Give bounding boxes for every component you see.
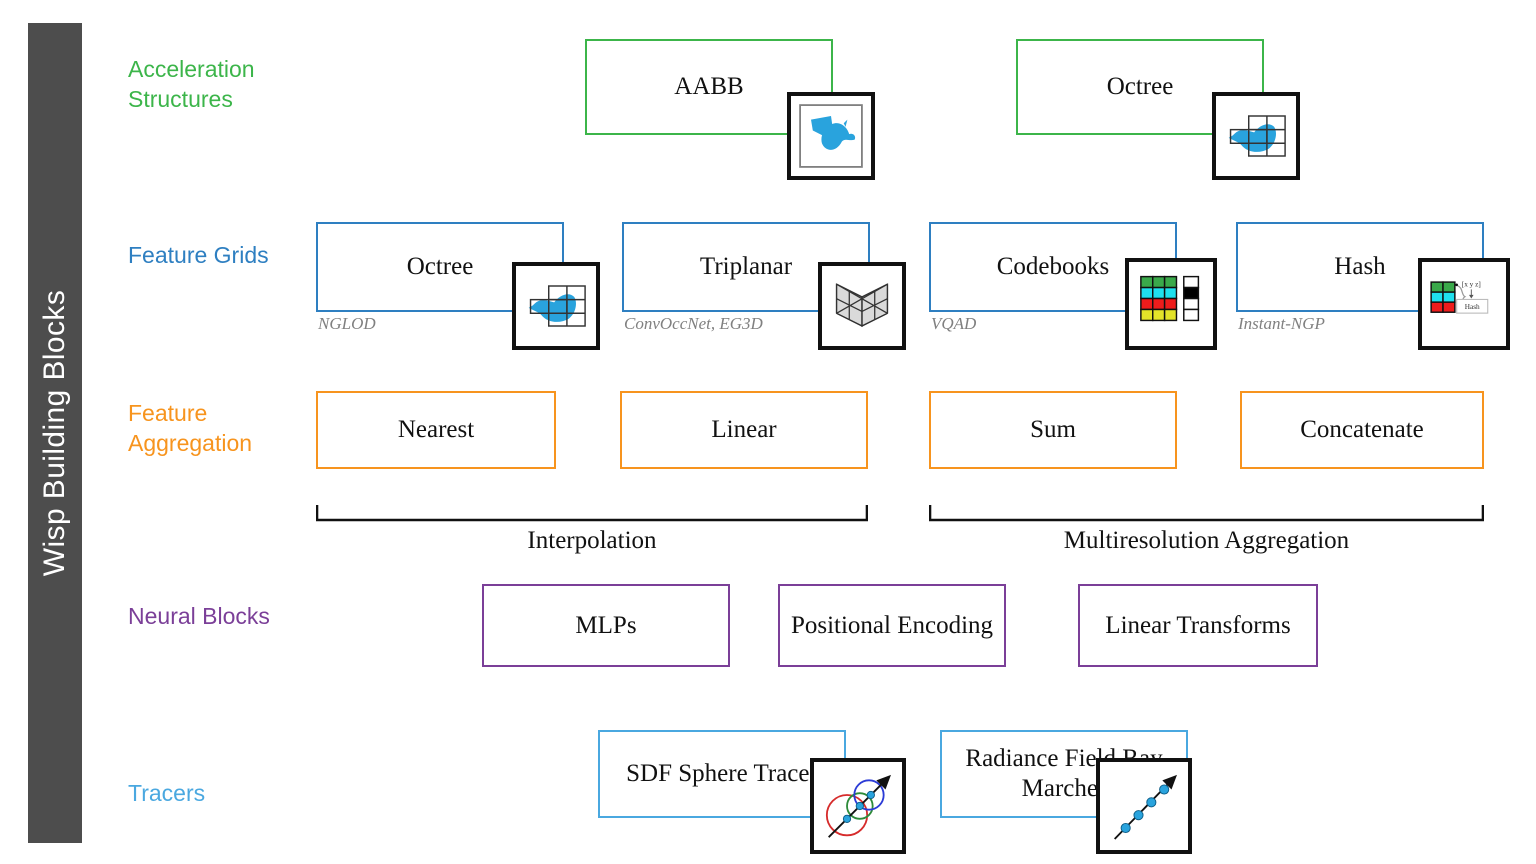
sphere-tracer-icon [810,758,906,854]
node-positional-encoding[interactable]: Positional Encoding [778,584,1006,667]
node-linear-transforms[interactable]: Linear Transforms [1078,584,1318,667]
node-aabb-label: AABB [674,72,743,102]
row-label-tracers: Tracers [128,778,328,808]
octree-grid-icon [1212,92,1300,180]
bracket-multiresolution-aggregation-label: Multiresolution Aggregation [929,527,1484,555]
node-sdf-sphere-tracer-label: SDF Sphere Tracer [626,759,818,789]
node-mlps[interactable]: MLPs [482,584,730,667]
row-label-neural-blocks: Neural Blocks [128,601,348,631]
bracket-interpolation-label: Interpolation [316,527,868,555]
row-label-feature-aggregation: Feature Aggregation [128,398,338,458]
node-sum-label: Sum [1030,415,1076,445]
bracket-interpolation [316,504,868,526]
triplanar-planes-icon [818,262,906,350]
node-concatenate-label: Concatenate [1300,415,1424,445]
node-triplanar-label: Triplanar [700,252,792,282]
svg-text:Hash: Hash [1465,302,1480,311]
svg-text:[x y z]: [x y z] [1462,280,1481,289]
banner-title: Wisp Building Blocks [38,290,72,576]
node-positional-encoding-label: Positional Encoding [791,611,993,641]
node-sdf-sphere-tracer[interactable]: SDF Sphere Tracer [598,730,846,818]
codebook-palette-icon [1125,258,1217,350]
node-hash-label: Hash [1334,252,1385,282]
row-label-acceleration-structures: Acceleration Structures [128,54,328,114]
node-linear[interactable]: Linear [620,391,868,469]
node-nearest[interactable]: Nearest [316,391,556,469]
node-nearest-label: Nearest [398,415,474,445]
row-label-feature-grids: Feature Grids [128,240,348,270]
node-mlps-label: MLPs [575,611,636,641]
caption-instant-ngp: Instant-NGP [1238,314,1325,334]
node-sum[interactable]: Sum [929,391,1177,469]
node-octree-grid-label: Octree [407,252,474,282]
bracket-multiresolution-aggregation [929,504,1484,526]
diagram-canvas: Wisp Building Blocks Acceleration Struct… [0,0,1536,864]
caption-vqad: VQAD [931,314,976,334]
wisp-banner: Wisp Building Blocks [28,23,82,843]
aabb-blob-icon [787,92,875,180]
caption-convoccnet-eg3d: ConvOccNet, EG3D [624,314,763,334]
node-concatenate[interactable]: Concatenate [1240,391,1484,469]
hash-table-icon: [x y z] Hash [1418,258,1510,350]
caption-nglod: NGLOD [318,314,376,334]
node-linear-label: Linear [711,415,776,445]
octree-grid-icon [512,262,600,350]
node-octree-acceleration-label: Octree [1107,72,1174,102]
ray-marcher-icon [1096,758,1192,854]
node-linear-transforms-label: Linear Transforms [1105,611,1290,641]
node-codebooks-label: Codebooks [997,252,1110,282]
